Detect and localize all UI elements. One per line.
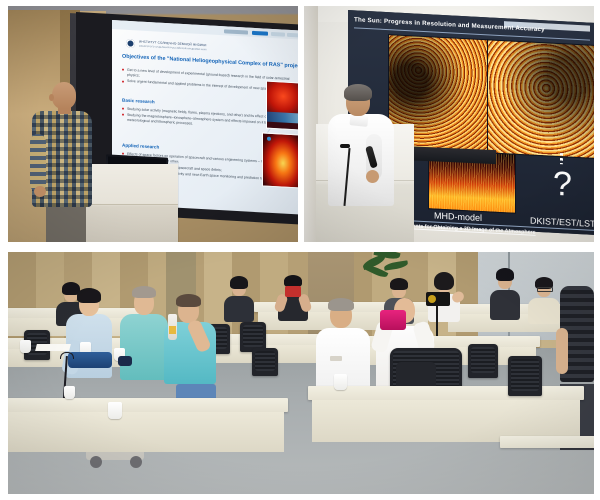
photo-panel-top-right: The Sun: Progress in Resolution and Meas…	[304, 6, 594, 242]
presenter-hair	[344, 84, 372, 101]
photo-panel-bottom-audience	[8, 252, 594, 494]
desk-front-left	[8, 398, 288, 412]
slide-thumbnail-image	[262, 132, 298, 188]
audience-person	[490, 266, 520, 318]
audience-person-glasses	[528, 276, 560, 322]
logo-patch	[330, 356, 342, 361]
caster-wheel	[130, 456, 142, 468]
glasses-icon	[537, 287, 553, 292]
presenter-arm	[30, 134, 46, 192]
backpack	[68, 352, 112, 368]
presenter-hand	[34, 186, 46, 197]
paper-cup	[20, 340, 31, 353]
presenter-head	[52, 82, 76, 109]
paper-cup	[64, 386, 75, 399]
chair	[252, 348, 278, 376]
presenter-hand	[366, 170, 379, 183]
chair	[508, 356, 542, 396]
presenter-plaid-shirt	[30, 82, 94, 242]
camera	[285, 286, 301, 297]
question-dots	[560, 153, 563, 164]
slide-browser-bar	[112, 20, 298, 40]
small-bag	[118, 356, 132, 366]
audience-person-blue-shirt	[164, 294, 216, 398]
solar-granulation-image-right	[487, 39, 594, 159]
desk-foreground-right	[500, 436, 594, 448]
chair	[468, 344, 498, 378]
audience-person-with-camera	[278, 274, 308, 320]
photo-panel-top-left: ИНСТИТУТ СОЛНЕЧНО-ЗЕМНОЙ ФИЗИКИ СИБИРСКО…	[8, 6, 298, 242]
desk-front-right	[308, 386, 584, 400]
photo-collage: ИНСТИТУТ СОЛНЕЧНО-ЗЕМНОЙ ФИЗИКИ СИБИРСКО…	[0, 0, 600, 500]
presenter-legs	[46, 202, 86, 242]
question-mark: ?	[553, 167, 572, 202]
presenter-white-polo	[328, 84, 398, 242]
paper-sheet	[35, 344, 71, 351]
slide-thumbnail-image	[266, 81, 298, 131]
caster-wheel	[90, 456, 102, 468]
pink-camera	[380, 310, 406, 330]
institute-name: ИНСТИТУТ СОЛНЕЧНО-ЗЕМНОЙ ФИЗИКИ СИБИРСКО…	[139, 40, 207, 52]
paper-cup	[108, 402, 122, 419]
audience-person	[224, 276, 254, 320]
audience-person-teal-shirt	[120, 286, 168, 382]
cane-handle	[60, 352, 74, 359]
bottle-label	[169, 326, 176, 334]
microphone-stand-head	[340, 144, 350, 148]
institute-logo-icon	[126, 39, 135, 49]
presenter-torso	[328, 114, 394, 206]
presenter-ear	[49, 94, 54, 101]
paper-cup	[334, 374, 347, 390]
